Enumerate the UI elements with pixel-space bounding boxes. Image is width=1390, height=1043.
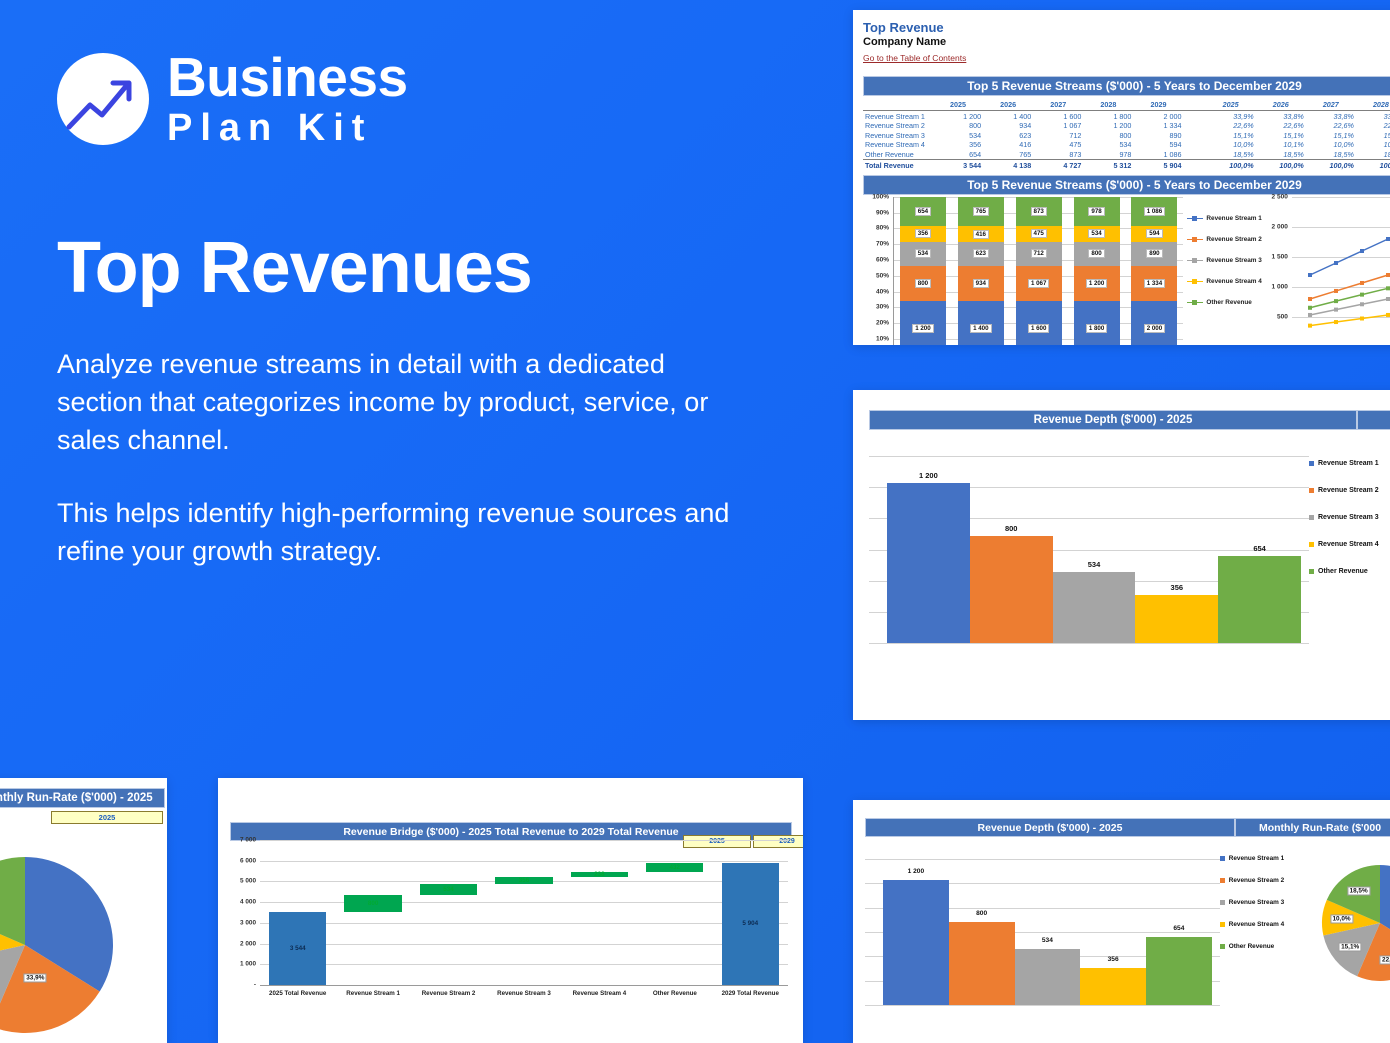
depth-legend-item: Revenue Stream 3: [1220, 899, 1297, 906]
legend-item: Revenue Stream 2: [1187, 236, 1261, 243]
stacked-bar: 9785348001 2001 800: [1074, 197, 1120, 345]
brand-name-line1: Business: [167, 50, 408, 105]
depth-bar-label: 356: [1080, 956, 1146, 963]
stacked-segment: 934: [958, 266, 1004, 302]
stacked-y-tick: 30%: [876, 304, 889, 311]
table-pct-year-header: 2026: [1256, 100, 1306, 111]
stacked-segment-label: 623: [973, 249, 989, 258]
depth-legend-label: Revenue Stream 2: [1318, 487, 1379, 494]
stacked-segment-label: 356: [915, 229, 931, 238]
depth-bar: 534: [1015, 949, 1081, 1005]
stacked-bar-chart: 100%90%80%70%60%50%40%30%20%10%0% 654356…: [863, 197, 1187, 345]
depth-bar: 800: [970, 536, 1053, 643]
depth-legend-label: Revenue Stream 4: [1318, 541, 1379, 548]
table-cell: 534: [933, 130, 983, 140]
pie-slice-label: 33,9%: [24, 973, 47, 982]
table-pct-cell: 10,1%: [1356, 140, 1390, 150]
depth-legend-label: Revenue Stream 4: [1229, 921, 1284, 928]
bridge-plot-area: 3 5448005343562384325 904: [260, 840, 788, 985]
table-cell: 1 800: [1083, 111, 1133, 121]
table-cell: 1 334: [1133, 121, 1183, 131]
panel-e-band-row: Revenue Depth ($'000) - 2025 Monthly Run…: [865, 818, 1390, 837]
stacked-segment: 1 334: [1131, 266, 1177, 302]
stacked-bar: 8734757121 0671 600: [1016, 197, 1062, 345]
legend-item: Revenue Stream 4: [1187, 278, 1261, 285]
table-cell: 1 600: [1033, 111, 1083, 121]
table-pct-cell: 15,1%: [1356, 130, 1390, 140]
stacked-segment: 1 200: [1074, 266, 1120, 302]
table-year-header: 2026: [983, 100, 1033, 111]
revenue-depth-chart: 1 200800534356654: [869, 438, 1309, 653]
pie-chart-right: 33,9%22,6%15,1%10,0%18,5%: [1297, 843, 1390, 1013]
legend-label: Revenue Stream 1: [1206, 215, 1261, 222]
stacked-segment: 1 067: [1016, 266, 1062, 302]
stacked-y-tick: 80%: [876, 225, 889, 232]
table-cell: 873: [1033, 150, 1083, 160]
charts-row: 100%90%80%70%60%50%40%30%20%10%0% 654356…: [863, 197, 1390, 345]
stacked-segment: 1 800: [1074, 301, 1120, 345]
revenue-depth-chart-2: 1 200800534356654: [865, 843, 1220, 1013]
stacked-segment-label: 1 067: [1028, 279, 1049, 288]
depth-legend-item: Other Revenue: [1309, 568, 1390, 575]
table-pct-cell: 18,5%: [1256, 150, 1306, 160]
bridge-y-tick: 6 000: [240, 857, 256, 864]
depth-legend-item: Revenue Stream 3: [1309, 514, 1390, 521]
stacked-segment: 712: [1016, 242, 1062, 266]
pie-slice-label: 18,5%: [1347, 886, 1370, 895]
stacked-segment: 1 400: [958, 301, 1004, 345]
line-y-tick: 500: [1277, 313, 1288, 320]
stacked-segment: 1 200: [900, 301, 946, 345]
table-pct-cell: 10,0%: [1306, 140, 1356, 150]
brand-name-line2: Plan Kit: [167, 109, 408, 147]
legend-label: Other Revenue: [1206, 299, 1251, 306]
stacked-plot-area: 6543565348001 2007654166239341 400873475…: [893, 197, 1183, 345]
table-of-contents-link[interactable]: Go to the Table of Contents: [863, 53, 966, 63]
chart-band-title: Top 5 Revenue Streams ($'000) - 5 Years …: [863, 175, 1390, 195]
legend-item: Revenue Stream 1: [1187, 215, 1261, 222]
stacked-segment-label: 800: [915, 279, 931, 288]
table-pct-cell: 33,9%: [1206, 111, 1256, 121]
stacked-segment-label: 1 400: [970, 324, 991, 333]
bridge-bar: 432: [646, 863, 703, 872]
bridge-y-tick: 5 000: [240, 878, 256, 885]
stacked-bar: 7654166239341 400: [958, 197, 1004, 345]
table-pct-cell: 22,6%: [1206, 121, 1256, 131]
stacked-segment-label: 890: [1146, 249, 1162, 258]
bridge-y-tick: 4 000: [240, 899, 256, 906]
depth-legend-label: Revenue Stream 1: [1229, 855, 1284, 862]
stacked-segment: 654: [900, 197, 946, 226]
table-cell: 416: [983, 140, 1033, 150]
table-row: Revenue Stream 435641647553459410,0%10,1…: [863, 140, 1390, 150]
table-pct-cell: 33,8%: [1306, 111, 1356, 121]
bridge-y-tick: 7 000: [240, 837, 256, 844]
bridge-y-axis: 7 0006 0005 0004 0003 0002 0001 000-: [230, 840, 256, 985]
table-pct-cell: 18,5%: [1306, 150, 1356, 160]
depth-legend-item: Revenue Stream 1: [1309, 460, 1390, 467]
stacked-segment-label: 1 334: [1144, 279, 1165, 288]
stacked-segment-label: 594: [1146, 229, 1162, 238]
table-pct-cell: 33,9%: [1356, 111, 1390, 121]
stacked-segment: 765: [958, 197, 1004, 226]
table-cell: 1 400: [983, 111, 1033, 121]
depth-legend-item: Other Revenue: [1220, 943, 1297, 950]
brand-logo: Business Plan Kit: [57, 50, 787, 147]
table-cell: 1 067: [1033, 121, 1083, 131]
stacked-y-axis: 100%90%80%70%60%50%40%30%20%10%0%: [863, 197, 889, 345]
stacked-segment: 800: [900, 266, 946, 302]
depth-bar-label: 534: [1053, 560, 1136, 569]
stacked-segment: 978: [1074, 197, 1120, 226]
table-row: Other Revenue6547658739781 08618,5%18,5%…: [863, 150, 1390, 160]
page-title: Top Revenues: [57, 232, 787, 304]
table-year-header: 2027: [1033, 100, 1083, 111]
revenue-depth-title-2: Revenue Depth ($'000) - 2025: [865, 818, 1235, 837]
table-pct-cell: 22,6%: [1356, 121, 1390, 131]
depth-bar: 1 200: [883, 880, 949, 1005]
table-pct-year-header: 2025: [1206, 100, 1256, 111]
table-row: Revenue Stream 11 2001 4001 6001 8002 00…: [863, 111, 1390, 121]
bridge-bar: 3 544: [269, 912, 326, 985]
monthly-run-rate-title-clipped: Monthly Run-Rate ($'000) - 2025: [0, 788, 165, 808]
table-cell: 765: [983, 150, 1033, 160]
depth-bar: 1 200: [887, 483, 970, 643]
bridge-x-axis: 2025 Total RevenueRevenue Stream 1Revenu…: [260, 990, 788, 997]
line-y-tick: 1 000: [1272, 283, 1288, 290]
table-pct-cell: 10,0%: [1206, 140, 1256, 150]
stacked-segment: 800: [1074, 242, 1120, 266]
stacked-segment-label: 416: [973, 230, 989, 239]
depth-legend-item: Revenue Stream 1: [1220, 855, 1297, 862]
depth-legend-item: Revenue Stream 4: [1309, 541, 1390, 548]
bridge-column: 356: [486, 840, 561, 985]
stacked-segment: 873: [1016, 197, 1062, 226]
pie-slice-label: 10,0%: [1330, 915, 1353, 924]
sheet-title: Top Revenue: [863, 20, 1390, 35]
table-cell: 800: [1083, 130, 1133, 140]
depth-bar-label: 800: [970, 524, 1053, 533]
bridge-column: 238: [562, 840, 637, 985]
stacked-segment-label: 1 200: [912, 324, 933, 333]
table-cell: 890: [1133, 130, 1183, 140]
stacked-y-tick: 40%: [876, 288, 889, 295]
bridge-x-tick: Revenue Stream 1: [335, 990, 410, 997]
depth-legend-item: Revenue Stream 2: [1220, 877, 1297, 884]
depth-bar-label: 356: [1135, 583, 1218, 592]
depth-legend-label: Other Revenue: [1229, 943, 1274, 950]
stacked-bar: 1 0865948901 3342 000: [1131, 197, 1177, 345]
depth-legend-label: Other Revenue: [1318, 568, 1368, 575]
stacked-segment-label: 765: [973, 207, 989, 216]
stacked-y-tick: 90%: [876, 209, 889, 216]
promo-paragraph-1: Analyze revenue streams in detail with a…: [57, 346, 737, 459]
depth-bar: 654: [1146, 937, 1212, 1005]
growth-arrow-icon: [57, 53, 149, 145]
pie-slice-label: 15,1%: [1339, 943, 1362, 952]
stacked-segment-label: 534: [1088, 229, 1104, 238]
legend-line-icon: [1187, 302, 1203, 303]
bridge-x-tick: Other Revenue: [637, 990, 712, 997]
depth-legend-label: Revenue Stream 3: [1318, 514, 1379, 521]
depth-bar: 800: [949, 922, 1015, 1005]
depth-legend-label: Revenue Stream 3: [1229, 899, 1284, 906]
panel-top-revenue-sheet: Top Revenue Company Name Go to the Table…: [853, 10, 1390, 345]
legend-label: Revenue Stream 3: [1206, 257, 1261, 264]
depth-legend-item: Revenue Stream 4: [1220, 921, 1297, 928]
year-selector-left[interactable]: 2025: [51, 811, 163, 824]
depth-legend-item: Revenue Stream 2: [1309, 487, 1390, 494]
table-pct-cell: 15,1%: [1306, 130, 1356, 140]
revenue-depth-plot-2: 1 200800534356654: [865, 859, 1220, 1005]
revenue-depth-legend-2: Revenue Stream 1Revenue Stream 2Revenue …: [1220, 843, 1297, 1013]
table-cell: 475: [1033, 140, 1083, 150]
table-cell: 1 200: [933, 111, 983, 121]
panel-monthly-run-rate-left: Monthly Run-Rate ($'000) - 2025 2025 33,…: [0, 778, 167, 1043]
legend-line-icon: [1187, 239, 1203, 240]
stacked-y-tick: 50%: [876, 272, 889, 279]
stacked-segment-label: 1 600: [1028, 324, 1049, 333]
table-pct-cell: 22,6%: [1306, 121, 1356, 131]
line-chart: 2 5002 0001 5001 000500- 202520262027202…: [1262, 197, 1390, 345]
depth-bar-label: 654: [1218, 544, 1301, 553]
bridge-bar: 238: [571, 872, 628, 877]
table-cell: 654: [933, 150, 983, 160]
bridge-x-tick: Revenue Stream 3: [486, 990, 561, 997]
table-pct-cell: 18,5%: [1206, 150, 1256, 160]
depth-legend-label: Revenue Stream 1: [1318, 460, 1379, 467]
bridge-x-tick: Revenue Stream 2: [411, 990, 486, 997]
table-row: Revenue Stream 353462371280089015,1%15,1…: [863, 130, 1390, 140]
sheet-company: Company Name: [863, 36, 1390, 48]
bridge-bar: 534: [420, 884, 477, 895]
bridge-bar: 5 904: [722, 863, 779, 985]
table-cell: 712: [1033, 130, 1083, 140]
legend-label: Revenue Stream 4: [1206, 278, 1261, 285]
stacked-segment-label: 1 800: [1086, 324, 1107, 333]
revenue-depth-chart-wrap: 1 200800534356654 Revenue Stream 1Revenu…: [869, 438, 1390, 653]
stacked-segment: 356: [900, 226, 946, 242]
bridge-y-tick: -: [254, 982, 256, 989]
stacked-segment: 623: [958, 242, 1004, 266]
table-cell: 978: [1083, 150, 1133, 160]
stacked-segment: 2 000: [1131, 301, 1177, 345]
stacked-segment-label: 2 000: [1144, 324, 1165, 333]
line-y-axis: 2 5002 0001 5001 000500-: [1262, 197, 1288, 345]
table-cell: 623: [983, 130, 1033, 140]
table-pct-cell: 22,6%: [1256, 121, 1306, 131]
stacked-segment-label: 873: [1031, 207, 1047, 216]
table-cell: 1 200: [1083, 121, 1133, 131]
legend-line-icon: [1187, 281, 1203, 282]
line-y-tick: 1 500: [1272, 253, 1288, 260]
stacked-segment: 594: [1131, 226, 1177, 242]
table-cell: 1 086: [1133, 150, 1183, 160]
revenue-depth-legend: Revenue Stream 1Revenue Stream 2Revenue …: [1309, 438, 1390, 653]
stacked-y-tick: 100%: [872, 193, 889, 200]
promo-paragraph-2: This helps identify high-performing reve…: [57, 495, 737, 571]
bridge-column: 5 904: [713, 840, 788, 985]
table-pct-cell: 10,1%: [1256, 140, 1306, 150]
bridge-x-tick: 2029 Total Revenue: [713, 990, 788, 997]
bridge-column: 3 544: [260, 840, 335, 985]
table-pct-cell: 15,1%: [1206, 130, 1256, 140]
table-cell: 934: [983, 121, 1033, 131]
revenue-depth-plot: 1 200800534356654: [869, 456, 1309, 643]
legend-label: Revenue Stream 2: [1206, 236, 1261, 243]
table-year-header: 2025: [933, 100, 983, 111]
pie-slice-label: 22,6%: [1380, 955, 1390, 964]
stacked-segment-label: 475: [1031, 229, 1047, 238]
stacked-y-tick: 10%: [876, 336, 889, 343]
depth-bar-label: 1 200: [883, 868, 949, 875]
slide-canvas: Business Plan Kit Top Revenues Analyze r…: [0, 0, 1390, 1043]
depth-bar-label: 800: [949, 910, 1015, 917]
revenue-depth-title: Revenue Depth ($'000) - 2025: [869, 410, 1357, 430]
line-plot-area: [1292, 197, 1390, 345]
stacked-segment-label: 978: [1088, 207, 1104, 216]
bridge-y-tick: 3 000: [240, 919, 256, 926]
table-year-header: 2028: [1083, 100, 1133, 111]
stacked-segment-label: 800: [1088, 249, 1104, 258]
bridge-y-tick: 2 000: [240, 940, 256, 947]
monthly-run-rate-title-right: Monthly Run-Rate ($'000: [1235, 818, 1390, 837]
table-row-label: Revenue Stream 1: [863, 111, 933, 121]
table-pct-cell: 18,4%: [1356, 150, 1390, 160]
line-y-tick: 2 500: [1272, 193, 1288, 200]
stacked-segment: 416: [958, 226, 1004, 242]
panel-revenue-depth: Revenue Depth ($'000) - 2025 1 200800534…: [853, 390, 1390, 720]
legend-line-icon: [1187, 260, 1203, 261]
stacked-segment-label: 712: [1031, 249, 1047, 258]
table-row: Revenue Stream 28009341 0671 2001 33422,…: [863, 121, 1390, 131]
panel-depth-and-runrate: Revenue Depth ($'000) - 2025 Monthly Run…: [853, 800, 1390, 1043]
panel-revenue-bridge: Revenue Bridge ($'000) - 2025 Total Reve…: [218, 778, 803, 1043]
table-pct-year-header: 2027: [1306, 100, 1356, 111]
stacked-segment-label: 1 200: [1086, 279, 1107, 288]
line-chart-legend: Revenue Stream 1Revenue Stream 2Revenue …: [1187, 197, 1261, 345]
stacked-segment: 1 086: [1131, 197, 1177, 226]
stacked-segment: 890: [1131, 242, 1177, 266]
revenue-bridge-chart: 7 0006 0005 0004 0003 0002 0001 000- 3 5…: [230, 840, 792, 1020]
legend-line-icon: [1187, 218, 1203, 219]
bridge-column: 534: [411, 840, 486, 985]
revenue-table-wrap: 202520262027202820292025202620272028Reve…: [863, 100, 1390, 170]
pie-chart-left: 33,9%22,6%15,1%10,0%18,5%: [0, 840, 130, 1043]
stacked-y-tick: 70%: [876, 241, 889, 248]
stacked-segment: 534: [1074, 226, 1120, 242]
depth-bar-label: 534: [1015, 937, 1081, 944]
bridge-bar: 356: [495, 877, 552, 884]
revenue-depth-band-spacer: [1357, 410, 1390, 430]
bridge-x-tick: 2025 Total Revenue: [260, 990, 335, 997]
table-pct-cell: 33,8%: [1256, 111, 1306, 121]
table-cell: 356: [933, 140, 983, 150]
revenue-table: 202520262027202820292025202620272028Reve…: [863, 100, 1390, 170]
table-row-label: Other Revenue: [863, 150, 933, 160]
legend-item: Other Revenue: [1187, 299, 1261, 306]
table-cell: 800: [933, 121, 983, 131]
revenue-depth-band-row: Revenue Depth ($'000) - 2025: [869, 410, 1390, 430]
bridge-bar: 800: [344, 895, 401, 912]
table-year-header: 2029: [1133, 100, 1183, 111]
table-row-label: Revenue Stream 3: [863, 130, 933, 140]
line-y-tick: -: [1286, 343, 1288, 345]
bridge-x-tick: Revenue Stream 4: [562, 990, 637, 997]
stacked-segment: 475: [1016, 226, 1062, 242]
stacked-y-tick: 60%: [876, 257, 889, 264]
bridge-y-tick: 1 000: [240, 961, 256, 968]
stacked-segment-label: 534: [915, 249, 931, 258]
table-cell: 534: [1083, 140, 1133, 150]
table-row-label: Revenue Stream 4: [863, 140, 933, 150]
table-row-label: Revenue Stream 2: [863, 121, 933, 131]
line-y-tick: 2 000: [1272, 223, 1288, 230]
panel-e-content: 1 200800534356654 Revenue Stream 1Revenu…: [865, 843, 1390, 1013]
stacked-segment: 1 600: [1016, 301, 1062, 345]
depth-bar-label: 654: [1146, 925, 1212, 932]
promo-block: Business Plan Kit Top Revenues Analyze r…: [57, 50, 787, 571]
depth-legend-label: Revenue Stream 2: [1229, 877, 1284, 884]
stacked-segment-label: 654: [915, 207, 931, 216]
table-cell: 2 000: [1133, 111, 1183, 121]
stacked-bar: 6543565348001 200: [900, 197, 946, 345]
depth-bar: 356: [1080, 968, 1146, 1005]
table-total-row: Total Revenue3 5444 1384 7275 3125 90410…: [863, 160, 1390, 170]
table-pct-cell: 15,1%: [1256, 130, 1306, 140]
depth-bar: 654: [1218, 556, 1301, 643]
stacked-y-tick: 20%: [876, 320, 889, 327]
depth-bar: 356: [1135, 595, 1218, 643]
stacked-segment: 534: [900, 242, 946, 266]
table-band-title: Top 5 Revenue Streams ($'000) - 5 Years …: [863, 76, 1390, 96]
depth-bar: 534: [1053, 572, 1136, 643]
bridge-column: 800: [335, 840, 410, 985]
stacked-segment-label: 1 086: [1144, 207, 1165, 216]
depth-bar-label: 1 200: [887, 471, 970, 480]
legend-item: Revenue Stream 3: [1187, 257, 1261, 264]
table-pct-year-header: 2028: [1356, 100, 1390, 111]
bridge-column: 432: [637, 840, 712, 985]
stacked-segment-label: 934: [973, 279, 989, 288]
table-cell: 594: [1133, 140, 1183, 150]
